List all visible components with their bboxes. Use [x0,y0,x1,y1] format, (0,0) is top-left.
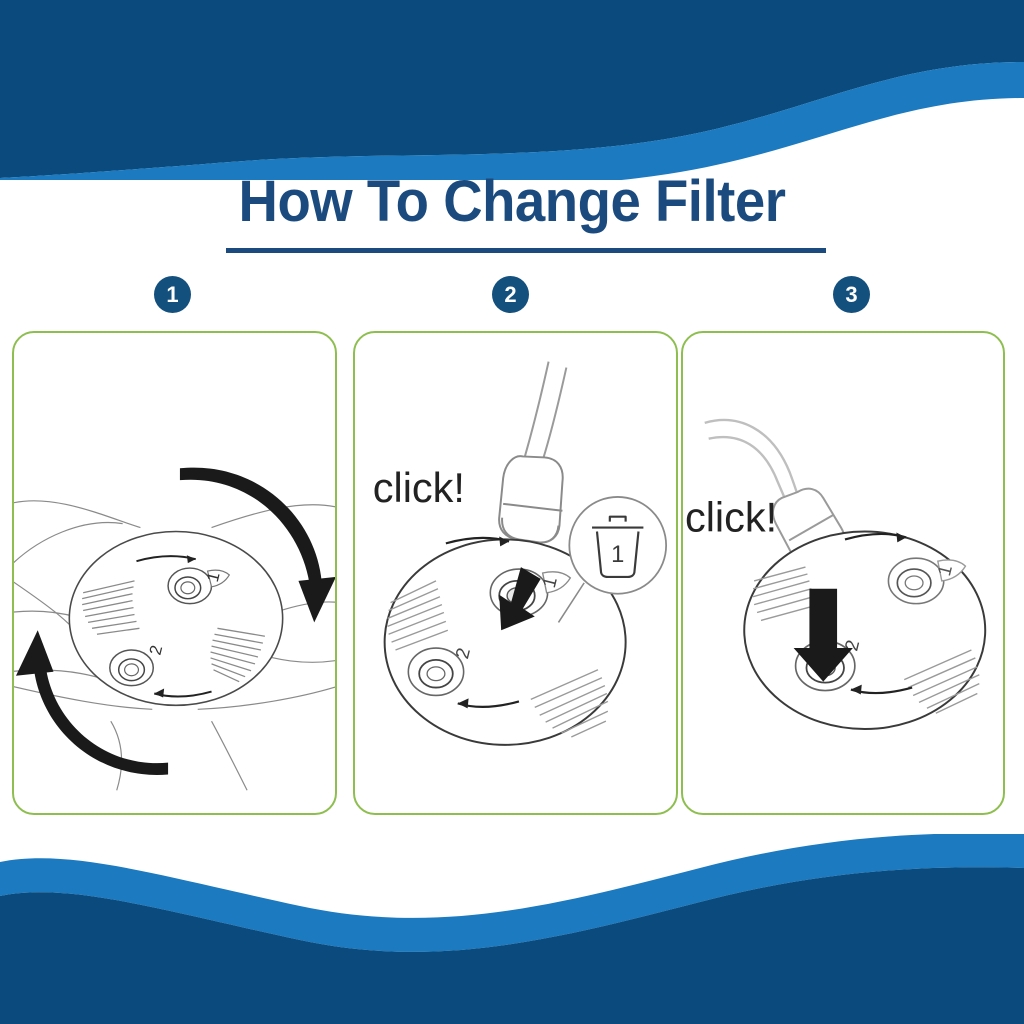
step-badge-2: 2 [492,276,529,313]
bottom-wave-decoration [0,834,1024,1024]
trash-badge-number: 1 [611,542,624,568]
title-underline [226,248,826,253]
step-card-1: 1 2 [12,331,337,815]
page-title-wrap: How To Change Filter [0,172,1024,233]
device-top-disc [69,532,282,706]
click-label: click! [685,494,777,541]
port-2-socket [110,650,153,686]
infographic-page: How To Change Filter 1 2 3 [0,0,1024,1024]
step-badge-1: 1 [154,276,191,313]
step-badge-3: 3 [833,276,870,313]
page-title: How To Change Filter [31,172,994,233]
click-label: click! [373,464,465,511]
step-card-2: 1 2 [353,331,678,815]
top-wave-decoration [0,0,1024,180]
steps-card-row: 1 2 [0,331,1024,817]
step-card-3: 1 2 [681,331,1005,815]
hose-cable [525,362,566,461]
